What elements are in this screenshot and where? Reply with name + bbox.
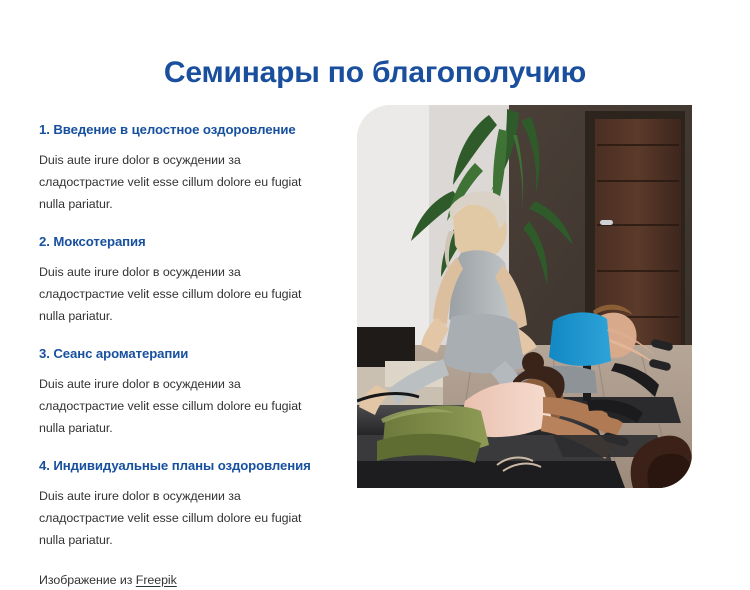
freepik-link[interactable]: Freepik <box>136 573 177 587</box>
seminar-item-4: 4. Индивидуальные планы оздоровления Dui… <box>39 457 327 551</box>
seminar-item-2: 2. Моксотерапия Duis aute irure dolor в … <box>39 233 327 327</box>
pilates-studio-photo <box>357 105 692 488</box>
seminar-item-1: 1. Введение в целостное оздоровление Dui… <box>39 121 327 215</box>
seminar-body-3: Duis aute irure dolor в осуждении за сла… <box>39 373 327 439</box>
seminar-heading-3: 3. Сеанс ароматерапии <box>39 345 327 362</box>
seminar-heading-4: 4. Индивидуальные планы оздоровления <box>39 457 327 474</box>
seminar-body-1: Duis aute irure dolor в осуждении за сла… <box>39 149 327 215</box>
seminar-item-3: 3. Сеанс ароматерапии Duis aute irure do… <box>39 345 327 439</box>
seminar-heading-1: 1. Введение в целостное оздоровление <box>39 121 327 138</box>
pilates-studio-illustration <box>357 105 692 488</box>
seminar-body-2: Duis aute irure dolor в осуждении за сла… <box>39 261 327 327</box>
seminar-body-4: Duis aute irure dolor в осуждении за сла… <box>39 485 327 551</box>
seminar-list: 1. Введение в целостное оздоровление Dui… <box>39 121 327 590</box>
page-title: Семинары по благополучию <box>0 53 750 93</box>
image-attribution: Изображение из Freepik <box>39 570 327 590</box>
wellness-seminars-page: Семинары по благополучию 1. Введение в ц… <box>0 0 750 542</box>
seminar-heading-2: 2. Моксотерапия <box>39 233 327 250</box>
attribution-prefix: Изображение из <box>39 573 136 587</box>
